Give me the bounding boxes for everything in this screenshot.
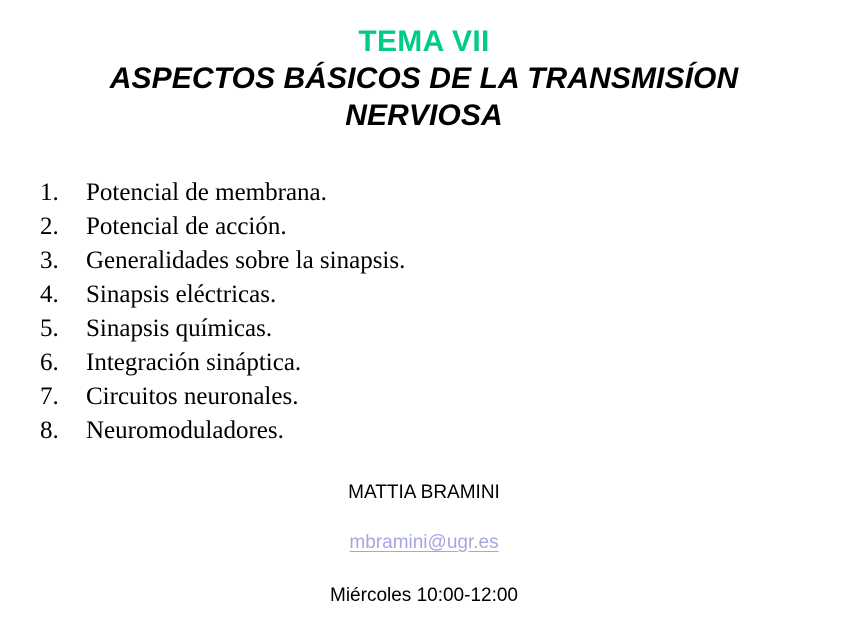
list-item: 8. Neuromoduladores. <box>40 414 600 448</box>
footer-block: MATTIA BRAMINI mbramini@ugr.es Miércoles… <box>0 480 848 609</box>
list-item-label: Potencial de acción. <box>86 210 287 244</box>
list-item-number: 5. <box>40 312 86 346</box>
email-link[interactable]: mbramini@ugr.es <box>349 532 498 553</box>
list-item-number: 4. <box>40 278 86 312</box>
contents-list: 1. Potencial de membrana. 2. Potencial d… <box>40 176 600 448</box>
list-item-number: 8. <box>40 414 86 448</box>
list-item: 4. Sinapsis eléctricas. <box>40 278 600 312</box>
list-item-label: Circuitos neuronales. <box>86 380 298 414</box>
list-item: 3. Generalidades sobre la sinapsis. <box>40 244 600 278</box>
list-item-label: Neuromoduladores. <box>86 414 284 448</box>
slide-canvas: TEMA VII ASPECTOS BÁSICOS DE LA TRANSMIS… <box>0 0 848 636</box>
list-item-number: 2. <box>40 210 86 244</box>
title-block: TEMA VII ASPECTOS BÁSICOS DE LA TRANSMIS… <box>0 24 848 134</box>
list-item-label: Sinapsis químicas. <box>86 312 272 346</box>
email-row: mbramini@ugr.es <box>0 530 848 557</box>
page-title-line-1: ASPECTOS BÁSICOS DE LA TRANSMISÍON <box>2 60 846 97</box>
schedule-text: Miércoles 10:00-12:00 <box>0 583 848 609</box>
list-item-number: 1. <box>40 176 86 210</box>
topic-label: TEMA VII <box>0 24 848 60</box>
list-item-label: Sinapsis eléctricas. <box>86 278 276 312</box>
list-item-number: 3. <box>40 244 86 278</box>
author-name: MATTIA BRAMINI <box>0 480 848 506</box>
list-item-label: Integración sináptica. <box>86 346 301 380</box>
list-item: 1. Potencial de membrana. <box>40 176 600 210</box>
page-title-line-2: NERVIOSA <box>2 97 846 134</box>
list-item: 6. Integración sináptica. <box>40 346 600 380</box>
list-item-label: Potencial de membrana. <box>86 176 327 210</box>
list-item: 2. Potencial de acción. <box>40 210 600 244</box>
list-item-number: 6. <box>40 346 86 380</box>
list-item: 7. Circuitos neuronales. <box>40 380 600 414</box>
list-item-label: Generalidades sobre la sinapsis. <box>86 244 405 278</box>
list-item: 5. Sinapsis químicas. <box>40 312 600 346</box>
list-item-number: 7. <box>40 380 86 414</box>
